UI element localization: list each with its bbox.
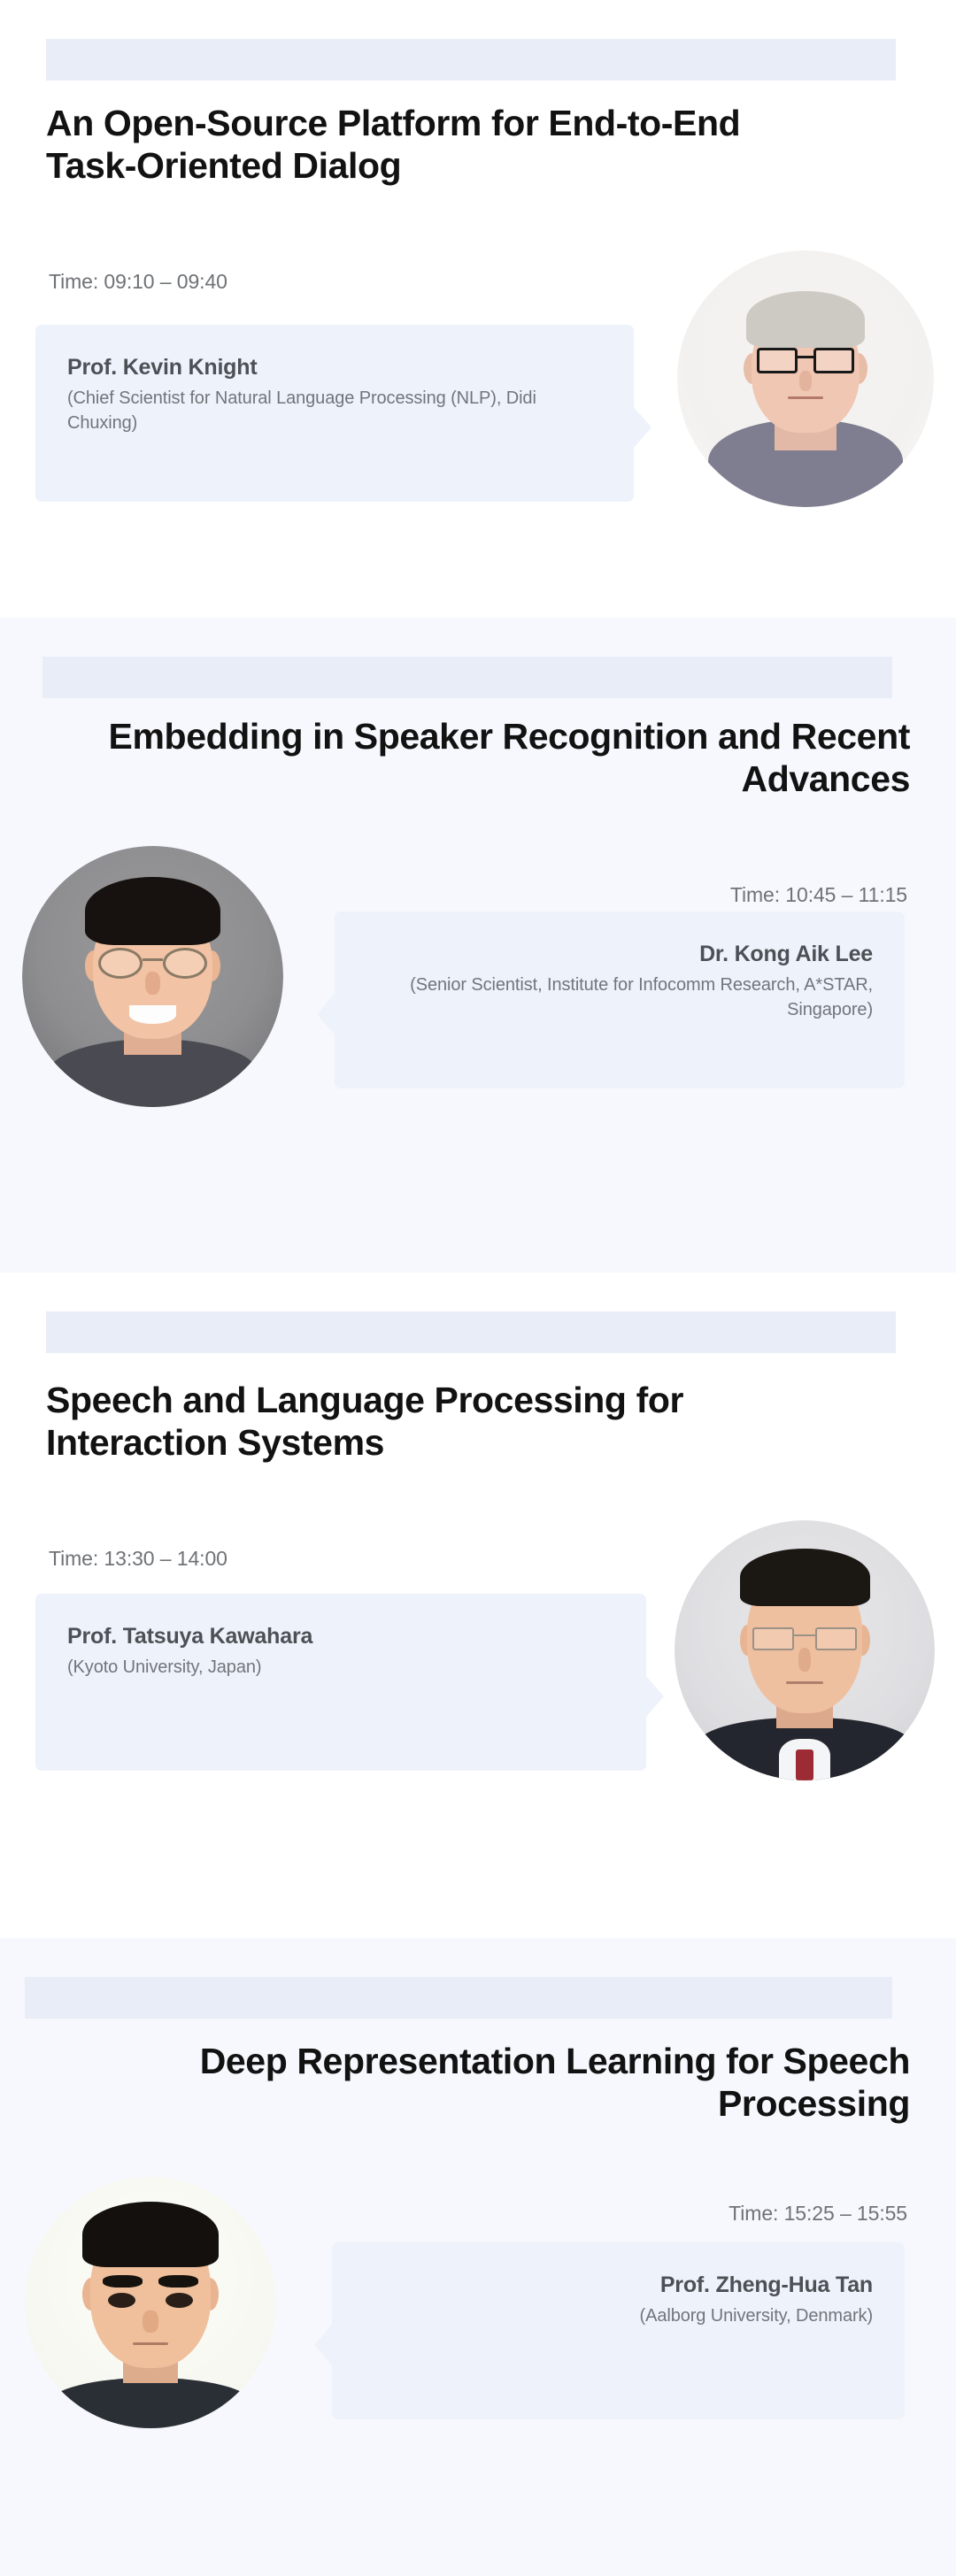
- session-card-4: Deep Representation Learning for Speech …: [0, 1938, 956, 2576]
- session-title-wrap: Deep Representation Learning for Speech …: [44, 2040, 956, 2126]
- speaker-affiliation: (Senior Scientist, Institute for Infocom…: [366, 973, 873, 1023]
- session-card-2: Embedding in Speaker Recognition and Rec…: [0, 618, 956, 1273]
- speaker-name: Dr. Kong Aik Lee: [366, 942, 873, 967]
- session-title-wrap: An Open-Source Platform for End-to-End T…: [0, 102, 885, 188]
- session-title: An Open-Source Platform for End-to-End T…: [46, 102, 839, 188]
- session-title: Speech and Language Processing for Inter…: [46, 1379, 848, 1465]
- speaker-name: Prof. Zheng-Hua Tan: [364, 2272, 873, 2298]
- session-title-wrap: Embedding in Speaker Recognition and Rec…: [44, 715, 956, 801]
- speech-bubble-tail-icon: [314, 2324, 333, 2366]
- speaker-card: Prof. Tatsuya Kawahara (Kyoto University…: [35, 1594, 646, 1771]
- speaker-card: Prof. Kevin Knight (Chief Scientist for …: [35, 325, 634, 502]
- session-time: Time: 09:10 – 09:40: [49, 270, 227, 294]
- portrait-kong-aik-lee-icon: [22, 846, 283, 1107]
- session-title: Embedding in Speaker Recognition and Rec…: [90, 715, 910, 801]
- speech-bubble-tail-icon: [633, 406, 651, 449]
- session-title-wrap: Speech and Language Processing for Inter…: [0, 1379, 894, 1465]
- title-highlight-band: [42, 657, 892, 698]
- session-time: Time: 10:45 – 11:15: [730, 883, 907, 907]
- speaker-affiliation: (Aalborg University, Denmark): [364, 2303, 873, 2328]
- portrait-kevin-knight-icon: [677, 250, 934, 507]
- speech-bubble-tail-icon: [317, 993, 335, 1035]
- session-card-1: An Open-Source Platform for End-to-End T…: [0, 0, 956, 618]
- speaker-photo: [675, 1520, 935, 1780]
- speaker-photo: [22, 846, 283, 1107]
- speaker-card: Dr. Kong Aik Lee (Senior Scientist, Inst…: [335, 911, 905, 1088]
- speaker-affiliation: (Kyoto University, Japan): [67, 1655, 614, 1680]
- speaker-affiliation: (Chief Scientist for Natural Language Pr…: [67, 386, 602, 436]
- title-highlight-band: [46, 1311, 896, 1353]
- session-card-3: Speech and Language Processing for Inter…: [0, 1273, 956, 1938]
- session-title: Deep Representation Learning for Speech …: [90, 2040, 910, 2126]
- title-highlight-band: [46, 39, 896, 81]
- speech-bubble-tail-icon: [645, 1675, 664, 1718]
- session-time: Time: 15:25 – 15:55: [729, 2202, 907, 2226]
- keynote-speakers-page: An Open-Source Platform for End-to-End T…: [0, 0, 956, 2576]
- speaker-photo: [25, 2177, 276, 2428]
- speaker-name: Prof. Tatsuya Kawahara: [67, 1624, 614, 1649]
- portrait-zheng-hua-tan-icon: [25, 2177, 276, 2428]
- portrait-tatsuya-kawahara-icon: [675, 1520, 935, 1780]
- title-highlight-band: [25, 1977, 892, 2019]
- session-time: Time: 13:30 – 14:00: [49, 1547, 227, 1571]
- speaker-card: Prof. Zheng-Hua Tan (Aalborg University,…: [332, 2242, 905, 2419]
- speaker-photo: [677, 250, 934, 507]
- speaker-name: Prof. Kevin Knight: [67, 355, 602, 381]
